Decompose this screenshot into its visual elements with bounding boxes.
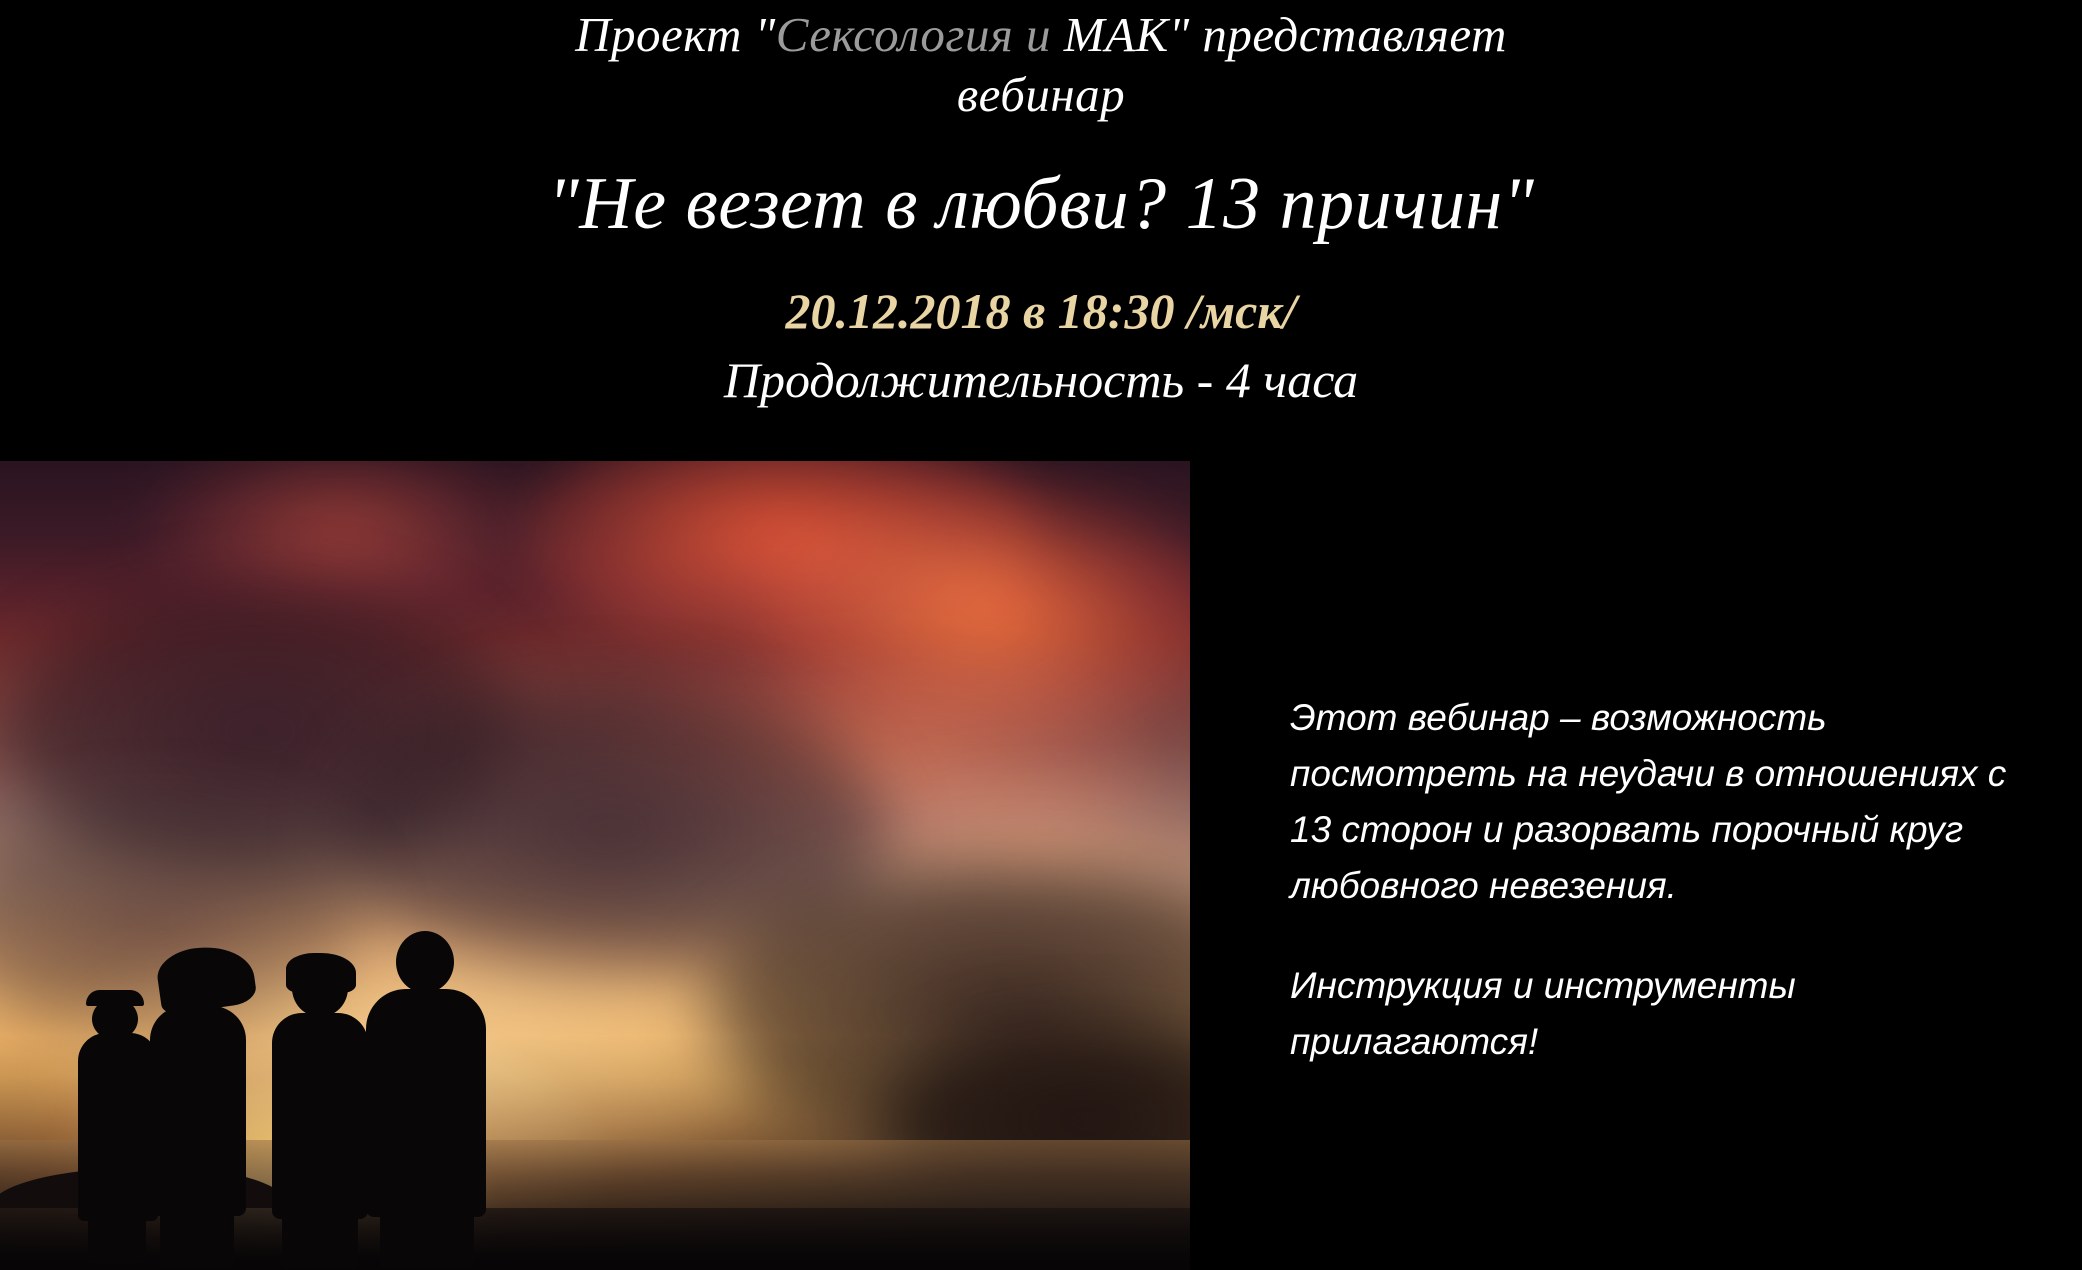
presents-prefix: Проект " [575,7,776,62]
poster-header: Проект "Сексология и МАК" представляет в… [0,0,2082,460]
description-paragraph-1: Этот вебинар – возможность посмотреть на… [1290,690,2030,914]
person-4-body [366,989,486,1217]
person-2-body [150,1006,246,1216]
description-paragraph-2: Инструкция и инструменты прилагаются! [1290,958,2030,1070]
presents-line: Проект "Сексология и МАК" представляет в… [0,0,2082,124]
person-3-legs [282,1205,358,1269]
person-4-head [396,931,454,993]
webinar-word: вебинар [0,66,2082,124]
sunset-beach-silhouettes-photo [0,461,1190,1270]
webinar-poster: Проект "Сексология и МАК" представляет в… [0,0,2082,1270]
event-datetime: 20.12.2018 в 18:30 /мск/ [0,246,2082,340]
presents-suffix: " представляет [1169,7,1507,62]
person-4-legs [380,1203,474,1269]
person-3-body [272,1013,368,1219]
person-1-hat [86,990,144,1006]
page-title: "Не везет в любви? 13 причин" [0,124,2082,246]
project-name-brand: МАК [1051,7,1169,62]
description-block: Этот вебинар – возможность посмотреть на… [1290,690,2030,1070]
event-duration: Продолжительность - 4 часа [0,340,2082,410]
person-3-hair [286,953,356,993]
person-1-legs [88,1201,146,1263]
person-1-body [78,1033,158,1221]
person-2-legs [160,1201,234,1269]
project-name-dim: Сексология и [776,7,1051,62]
